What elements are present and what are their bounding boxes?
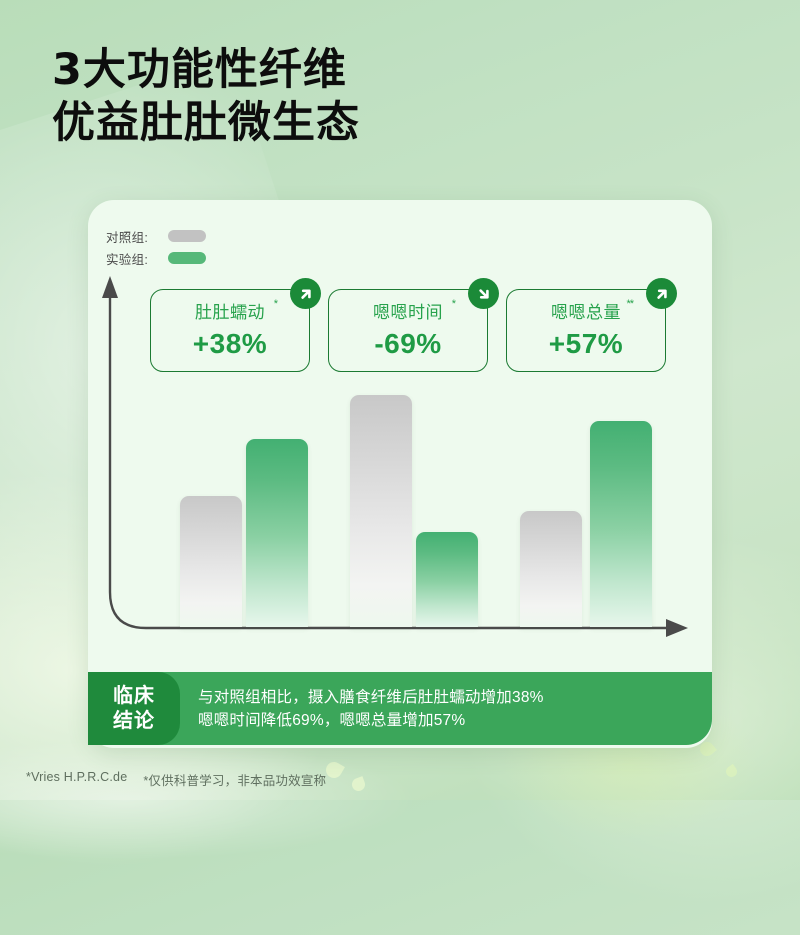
- background-swirl-5: [0, 740, 420, 860]
- bar-experiment-time: [416, 532, 478, 627]
- bar-control-volume: [520, 511, 582, 627]
- bar-experiment-volume: [590, 421, 652, 627]
- metric-badge-superscript: *: [274, 299, 277, 310]
- chart-card: 对照组: 实验组: 肚肚蠕动 * +38%: [88, 200, 712, 748]
- metric-badge-value: +38%: [193, 330, 267, 358]
- metric-badge-superscript: *: [452, 299, 455, 310]
- footnote-source: *Vries H.P.R.C.de: [26, 770, 127, 789]
- metric-badge-peristalsis[interactable]: 肚肚蠕动 * +38%: [150, 289, 310, 372]
- arrow-up-right-icon: [646, 278, 677, 309]
- leaf-decoration-icon: [350, 776, 367, 793]
- footnote: *Vries H.P.R.C.de *仅供科普学习，非本品功效宣称: [26, 770, 326, 789]
- conclusion-tag: 临床 结论: [88, 672, 180, 745]
- metric-badge-title-text: 嗯嗯时间: [373, 303, 443, 322]
- arrow-down-right-icon: [468, 278, 499, 309]
- metric-badge-volume[interactable]: 嗯嗯总量 ** +57%: [506, 289, 666, 372]
- arrow-up-right-icon: [290, 278, 321, 309]
- metric-badges: 肚肚蠕动 * +38% 嗯嗯时间 * -69%: [150, 289, 666, 372]
- leaf-decoration-icon: [724, 764, 739, 779]
- conclusion-text-line-1: 与对照组相比，摄入膳食纤维后肚肚蠕动增加38%: [198, 686, 544, 709]
- metric-badge-title: 嗯嗯时间 *: [373, 304, 443, 321]
- bar-control-peristalsis: [180, 496, 242, 627]
- page-title-line-2: 优益肚肚微生态: [52, 97, 360, 150]
- page-title-line-1: 3大功能性纤维: [52, 44, 360, 97]
- metric-badge-title: 嗯嗯总量 **: [551, 304, 621, 321]
- metric-badge-value: -69%: [374, 330, 441, 358]
- metric-badge-title-text: 肚肚蠕动: [195, 303, 265, 322]
- conclusion-text: 与对照组相比，摄入膳食纤维后肚肚蠕动增加38% 嗯嗯时间降低69%，嗯嗯总量增加…: [180, 686, 544, 732]
- metric-badge-value: +57%: [549, 330, 623, 358]
- conclusion-text-line-2: 嗯嗯时间降低69%，嗯嗯总量增加57%: [198, 709, 544, 732]
- leaf-decoration-icon: [323, 759, 345, 781]
- chart-bars: [88, 200, 712, 748]
- metric-badge-superscript: **: [626, 299, 633, 310]
- metric-badge-time[interactable]: 嗯嗯时间 * -69%: [328, 289, 488, 372]
- metric-badge-title: 肚肚蠕动 *: [195, 304, 265, 321]
- footnote-disclaimer: *仅供科普学习，非本品功效宣称: [143, 770, 326, 789]
- page-title: 3大功能性纤维 优益肚肚微生态: [52, 44, 360, 150]
- conclusion-tag-line-2: 结论: [113, 709, 155, 734]
- metric-badge-title-text: 嗯嗯总量: [551, 303, 621, 322]
- bar-experiment-peristalsis: [246, 439, 308, 627]
- conclusion-tag-line-1: 临床: [113, 684, 155, 709]
- bar-control-time: [350, 395, 412, 627]
- clinical-conclusion-banner: 临床 结论 与对照组相比，摄入膳食纤维后肚肚蠕动增加38% 嗯嗯时间降低69%，…: [88, 672, 712, 745]
